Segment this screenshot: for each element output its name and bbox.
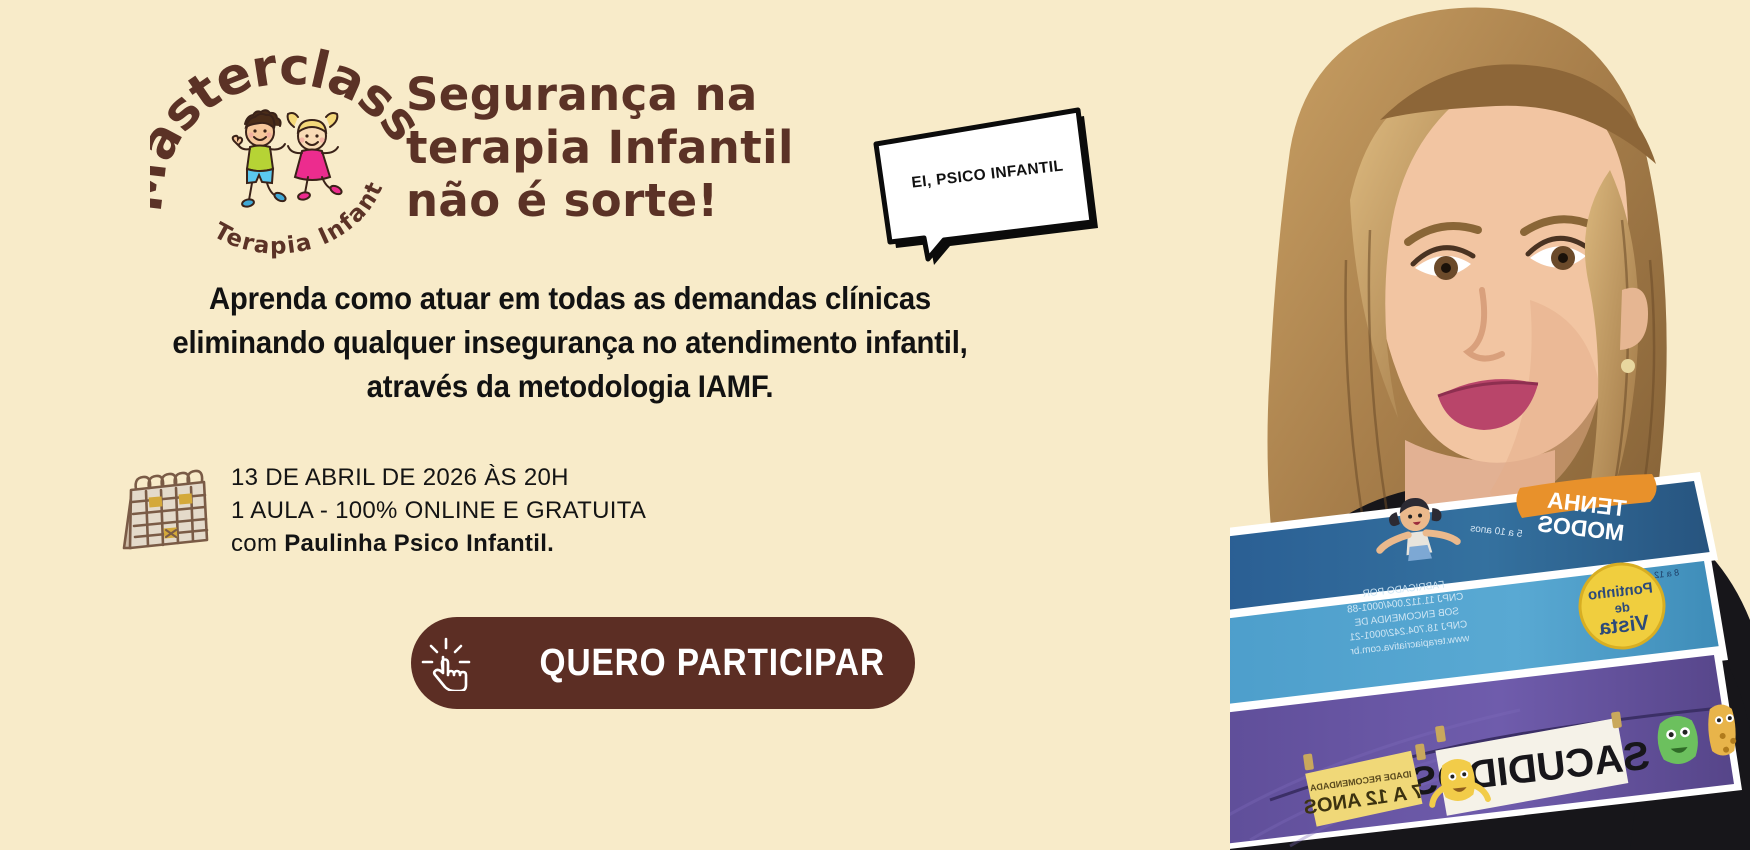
subtitle-line-1: Aprenda como atuar em todas as demandas … — [96, 276, 1045, 320]
subtitle-line-2: eliminando qualquer insegurança no atend… — [96, 320, 1045, 364]
two-children-icon — [212, 100, 362, 225]
masterclass-logo: Masterclass Terapia Infantil — [150, 38, 415, 263]
presenter-photo: TENHA MODOS 5 a 10 anos — [1230, 0, 1750, 850]
quero-participar-button[interactable]: QUERO PARTICIPAR — [411, 617, 915, 709]
subtitle-line-3: através da metodologia IAMF. — [96, 364, 1045, 408]
event-text-lines: 13 DE ABRIL DE 2026 ÀS 20H 1 AULA - 100%… — [231, 455, 646, 560]
event-date: 13 DE ABRIL DE 2026 ÀS 20H — [231, 461, 646, 494]
event-host: com Paulinha Psico Infantil. — [231, 527, 646, 560]
event-host-prefix: com — [231, 530, 284, 557]
speech-bubble: EI, PSICO INFANTIL — [872, 106, 1102, 266]
subtitle: Aprenda como atuar em todas as demandas … — [96, 276, 1045, 408]
calendar-icon — [108, 460, 213, 555]
cta-label: QUERO PARTICIPAR — [539, 642, 884, 685]
click-hand-icon — [418, 635, 474, 691]
event-format: 1 AULA - 100% ONLINE E GRATUITA — [231, 494, 646, 527]
promo-banner: Masterclass Terapia Infantil — [0, 0, 1750, 850]
event-details: 13 DE ABRIL DE 2026 ÀS 20H 1 AULA - 100%… — [108, 455, 646, 560]
event-host-name: Paulinha Psico Infantil. — [284, 530, 554, 557]
presenter-illustration: TENHA MODOS 5 a 10 anos — [1230, 0, 1750, 850]
